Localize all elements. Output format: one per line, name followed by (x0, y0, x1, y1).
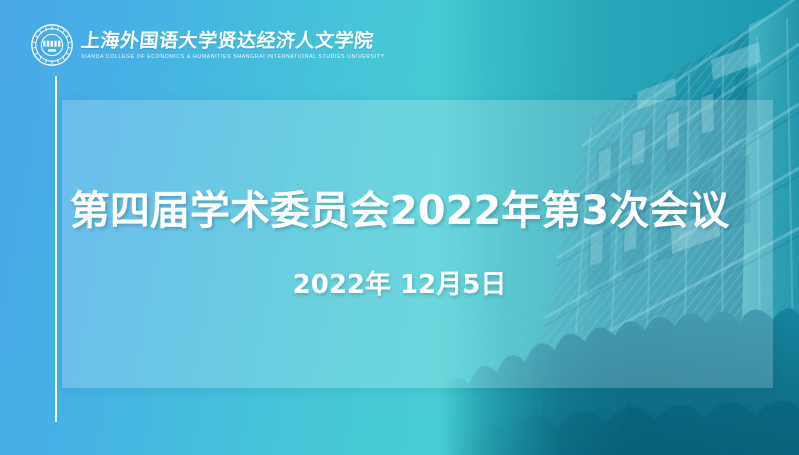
university-logo: 上海外国语大学贤达经济人文学院 XIANDA COLLEGE OF ECONOM… (30, 23, 385, 67)
content-panel (62, 100, 773, 388)
university-logo-text: 上海外国语大学贤达经济人文学院 XIANDA COLLEGE OF ECONOM… (81, 29, 385, 61)
slide-title: 第四届学术委员会2022年第3次会议 (0, 186, 799, 236)
slide-date: 2022年 12月5日 (0, 268, 799, 302)
presentation-slide: 上海外国语大学贤达经济人文学院 XIANDA COLLEGE OF ECONOM… (0, 0, 799, 455)
vertical-rule-divider (55, 76, 57, 422)
university-name-en: XIANDA COLLEGE OF ECONOMICS & HUMANITIES… (81, 54, 385, 61)
university-name-cn: 上海外国语大学贤达经济人文学院 (80, 31, 386, 52)
university-seal-icon (30, 23, 74, 67)
